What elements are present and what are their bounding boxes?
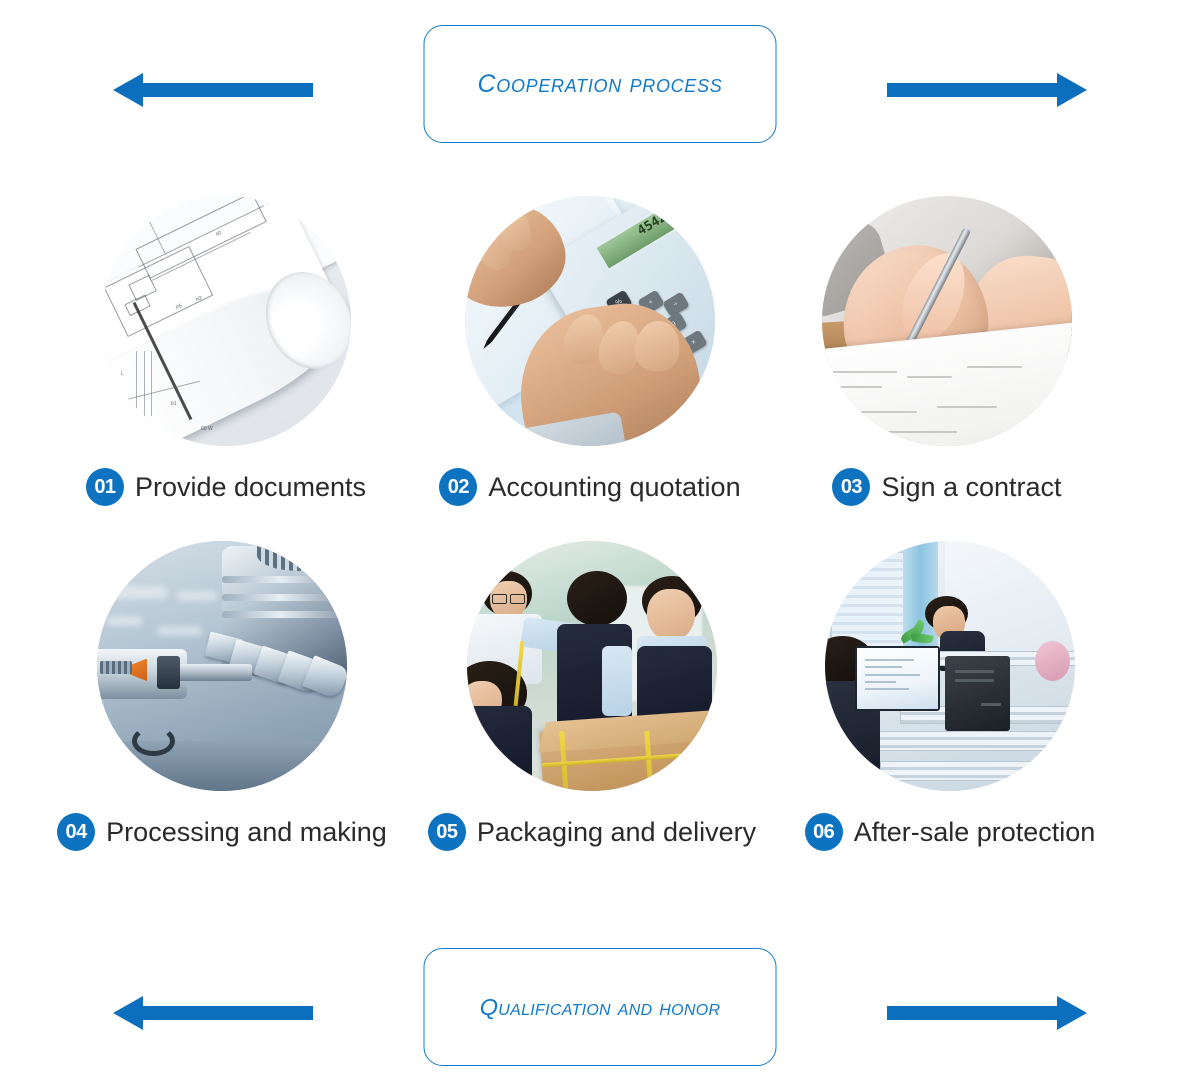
cnc-machining-photo bbox=[97, 541, 347, 791]
step-label-01: Provide documents bbox=[135, 474, 366, 501]
step-caption-04: 04 Processing and making bbox=[57, 813, 387, 851]
step-badge-03: 03 bbox=[832, 468, 870, 506]
arrow-left-icon bbox=[113, 72, 313, 108]
step-caption-01: 01 Provide documents bbox=[86, 468, 366, 506]
contract-signing-photo bbox=[822, 196, 1072, 446]
step-item-01[interactable]: 40 PE N2 L b1 60 W bbox=[36, 196, 416, 506]
step-badge-01: 01 bbox=[86, 468, 124, 506]
steps-row-2: 04 Processing and making bbox=[0, 541, 1200, 886]
step-item-05[interactable]: 05 Packaging and delivery bbox=[402, 541, 782, 851]
step-caption-03: 03 Sign a contract bbox=[832, 468, 1061, 506]
cooperation-process-infographic: Cooperation process 40 bbox=[0, 0, 1200, 1075]
step-item-03[interactable]: 03 Sign a contract bbox=[757, 196, 1137, 506]
arrow-right-icon bbox=[887, 995, 1087, 1031]
bottom-banner-title-box: Qualification and honor bbox=[424, 948, 777, 1066]
step-label-02: Accounting quotation bbox=[488, 474, 740, 501]
step-badge-06: 06 bbox=[805, 813, 843, 851]
arrow-left-icon bbox=[113, 995, 313, 1031]
packaging-workers-photo bbox=[467, 541, 717, 791]
step-item-06[interactable]: 06 After-sale protection bbox=[760, 541, 1140, 851]
arrow-right-icon bbox=[887, 72, 1087, 108]
step-badge-05: 05 bbox=[428, 813, 466, 851]
step-caption-06: 06 After-sale protection bbox=[805, 813, 1096, 851]
calculator-hands-photo: 4542 CE ON % 7 4 1 + 8 5 2 ÷ 9 bbox=[465, 196, 715, 446]
bottom-banner-title: Qualification and honor bbox=[480, 994, 721, 1021]
top-banner: Cooperation process bbox=[0, 25, 1200, 155]
top-banner-title-box: Cooperation process bbox=[424, 25, 777, 143]
step-label-03: Sign a contract bbox=[881, 474, 1061, 501]
step-caption-02: 02 Accounting quotation bbox=[439, 468, 740, 506]
step-label-04: Processing and making bbox=[106, 819, 387, 846]
steps-grid: 40 PE N2 L b1 60 W bbox=[0, 196, 1200, 886]
steps-row-1: 40 PE N2 L b1 60 W bbox=[0, 196, 1200, 541]
step-label-05: Packaging and delivery bbox=[477, 819, 756, 846]
step-label-06: After-sale protection bbox=[854, 819, 1096, 846]
step-item-02[interactable]: 4542 CE ON % 7 4 1 + 8 5 2 ÷ 9 bbox=[400, 196, 780, 506]
step-caption-05: 05 Packaging and delivery bbox=[428, 813, 756, 851]
step-badge-02: 02 bbox=[439, 468, 477, 506]
office-support-photo bbox=[825, 541, 1075, 791]
top-banner-title: Cooperation process bbox=[477, 70, 722, 99]
step-item-04[interactable]: 04 Processing and making bbox=[32, 541, 412, 851]
step-badge-04: 04 bbox=[57, 813, 95, 851]
bottom-banner: Qualification and honor bbox=[0, 948, 1200, 1075]
blueprint-rolls-photo: 40 PE N2 L b1 60 W bbox=[101, 196, 351, 446]
